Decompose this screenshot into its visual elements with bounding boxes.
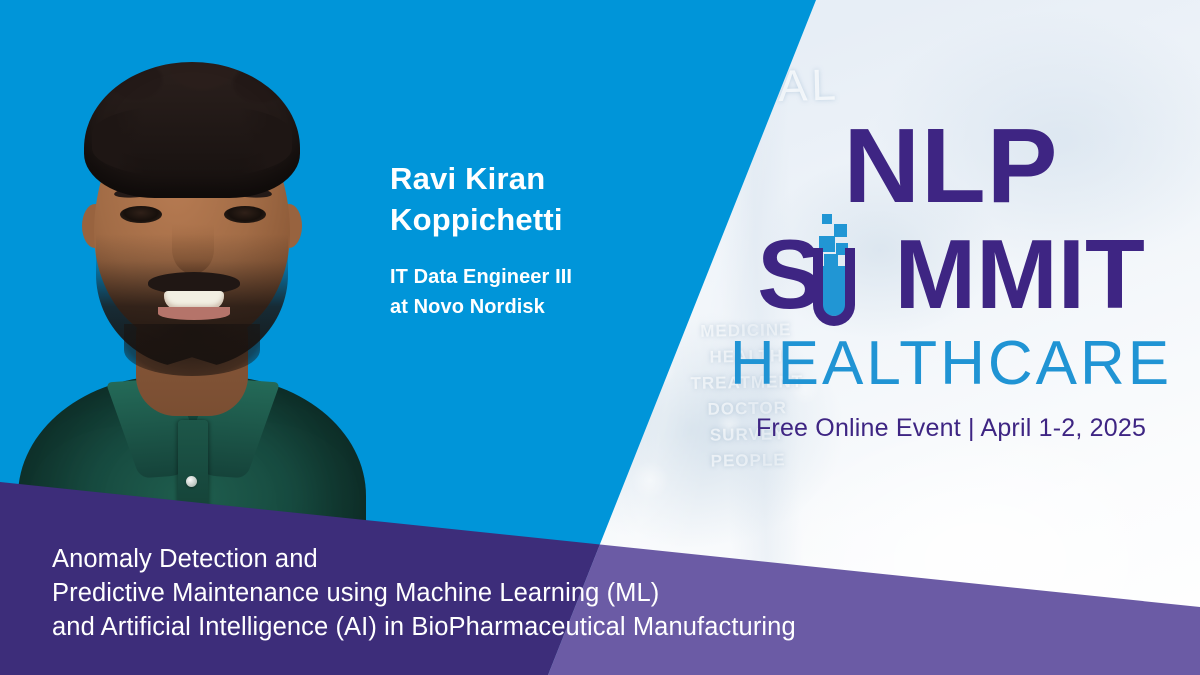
logo-healthcare-text: HEALTHCARE	[716, 332, 1186, 396]
photo-shirt-button	[186, 476, 197, 487]
ghost-keyword: PEOPLE	[673, 447, 823, 476]
speaker-photo	[18, 28, 366, 628]
speaker-name: Ravi Kiran Koppichetti	[390, 158, 650, 240]
photo-hair	[84, 62, 300, 198]
talk-title: Anomaly Detection and Predictive Mainten…	[52, 542, 1152, 644]
pixel-square-icon	[822, 214, 832, 224]
test-tube-icon	[805, 248, 863, 326]
event-logo: NLP SMMIT HEALTHCARE Free Online Event |…	[716, 118, 1186, 443]
photo-eye-left	[120, 206, 162, 223]
vial-outline	[813, 248, 855, 326]
photo-lower-lip	[158, 307, 230, 320]
logo-summit-row: SMMIT	[716, 222, 1186, 326]
speaker-role: IT Data Engineer III at Novo Nordisk	[390, 262, 650, 322]
logo-nlp-text: NLP	[716, 118, 1186, 214]
speaker-info: Ravi Kiran Koppichetti IT Data Engineer …	[390, 158, 650, 322]
event-date-line: Free Online Event | April 1-2, 2025	[716, 414, 1186, 443]
photo-chin-beard	[124, 324, 260, 376]
logo-summit-suffix: MMIT	[895, 219, 1145, 329]
photo-eye-right	[224, 206, 266, 223]
presentation-slide: ICAL MEDICINE HEALTH TREATMENT DOCTOR SU…	[0, 0, 1200, 675]
pixel-square-icon	[834, 224, 847, 237]
